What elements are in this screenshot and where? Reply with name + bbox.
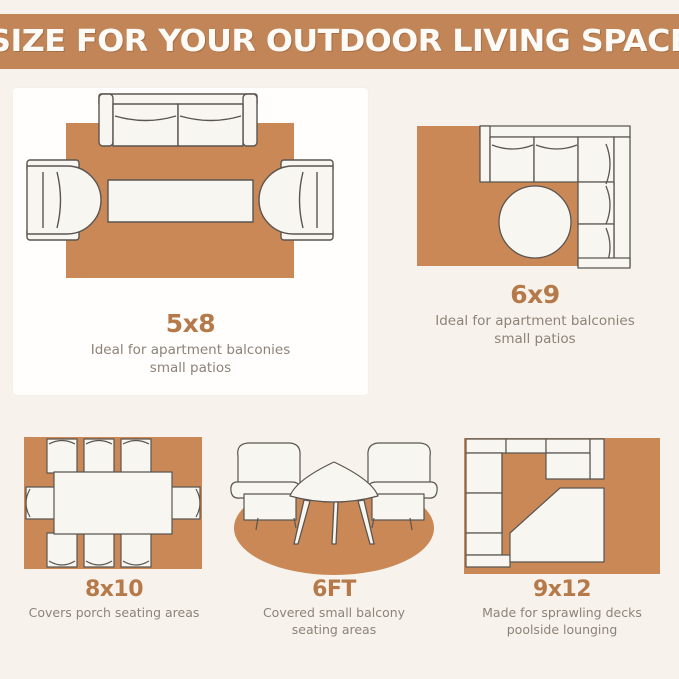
coffee-table: [108, 180, 253, 222]
chair-top-3: [121, 439, 151, 473]
chair-bottom-2: [84, 533, 114, 567]
panel-9x12: 9x12 Made for sprawling decks poolside l…: [452, 430, 672, 670]
panel-5x8-size: 5x8: [13, 310, 368, 338]
chair-bottom-3: [121, 533, 151, 567]
panel-6ft-desc: Covered small balcony seating areas: [226, 605, 442, 639]
header-banner: SIZE FOR YOUR OUTDOOR LIVING SPACE: [0, 14, 679, 69]
chair-left: [26, 487, 56, 519]
panel-5x8-desc: Ideal for apartment balconies small pati…: [13, 341, 368, 377]
panel-6x9-desc: Ideal for apartment balconies small pati…: [400, 312, 670, 348]
panel-6ft: 6FT Covered small balcony seating areas: [226, 430, 442, 670]
sofa: [99, 94, 257, 146]
panel-9x12-diagram: [452, 430, 672, 580]
chair-bottom-1: [47, 533, 77, 567]
panel-6ft-size: 6FT: [226, 578, 442, 602]
panel-5x8: 5x8 Ideal for apartment balconies small …: [13, 88, 368, 395]
panel-6x9-diagram: [400, 118, 670, 283]
page-title: SIZE FOR YOUR OUTDOOR LIVING SPACE: [0, 24, 679, 59]
panel-9x12-size: 9x12: [452, 578, 672, 602]
panel-6x9-size: 6x9: [400, 281, 670, 309]
panel-6ft-diagram: [226, 430, 442, 580]
chair-right: [170, 487, 200, 519]
table-top: [290, 462, 378, 502]
chair-top-1: [47, 439, 77, 473]
panel-6x9: 6x9 Ideal for apartment balconies small …: [400, 118, 670, 368]
round-table: [499, 186, 571, 258]
panel-8x10-diagram: [6, 430, 222, 580]
panel-5x8-diagram: [13, 88, 368, 313]
panel-8x10-size: 8x10: [6, 578, 222, 602]
chair-top-2: [84, 439, 114, 473]
panel-9x12-desc: Made for sprawling decks poolside loungi…: [452, 605, 672, 639]
infographic-page: SIZE FOR YOUR OUTDOOR LIVING SPACE: [0, 0, 679, 679]
panel-8x10: 8x10 Covers porch seating areas: [6, 430, 222, 670]
dining-table: [54, 472, 172, 534]
panel-8x10-desc: Covers porch seating areas: [6, 605, 222, 622]
